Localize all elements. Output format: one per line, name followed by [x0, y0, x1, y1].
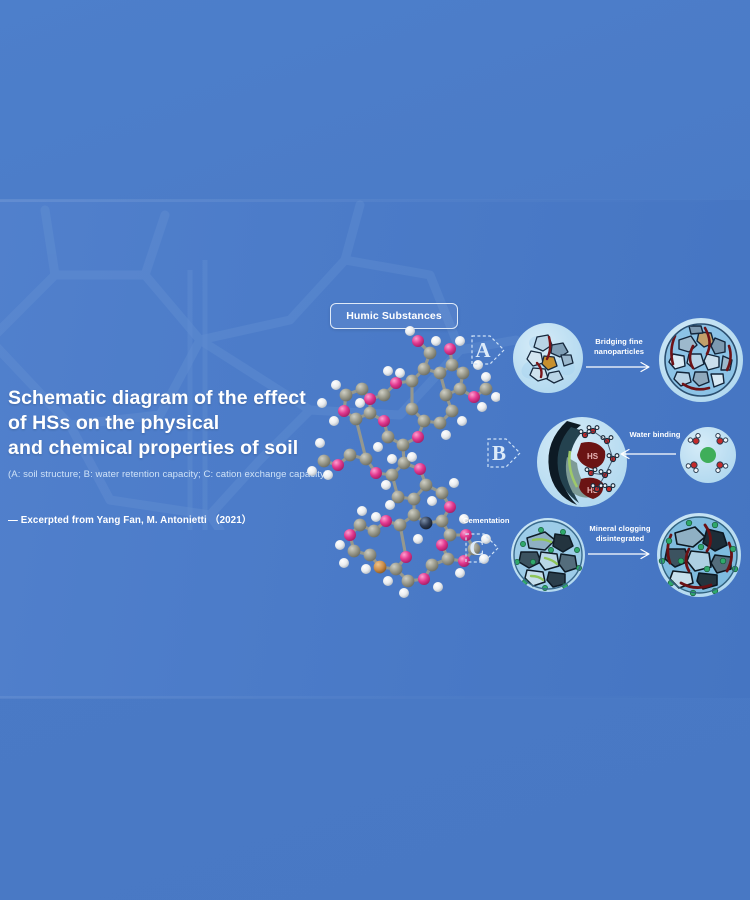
- panel-a-process-line-1: Bridging fine: [595, 337, 642, 346]
- panel-a-letter: A: [470, 330, 496, 370]
- panel-c-process-line-1: Mineral clogging: [589, 524, 650, 533]
- panel-c-process-label: Mineral clogging disintegrated: [572, 524, 668, 543]
- infographic-canvas: Schematic diagram of the effect of HSs o…: [0, 0, 750, 900]
- panel-b-arrow: [620, 447, 676, 459]
- panel-a-process-label: Bridging fine nanoparticles: [576, 337, 662, 356]
- panel-c-marker: C: [464, 528, 500, 568]
- panel-a-right-circle: [659, 318, 743, 402]
- panel-a-left-circle: [513, 323, 583, 393]
- title-line-3: and chemical properties of soil: [8, 437, 298, 459]
- panel-c-process-line-2: disintegrated: [596, 534, 644, 543]
- title-line-1: Schematic diagram of the effect: [8, 387, 306, 409]
- title-line-2: of HSs on the physical: [8, 412, 219, 434]
- page-title: Schematic diagram of the effect of HSs o…: [8, 386, 338, 461]
- panel-c-cementation-text: Cementation: [463, 516, 510, 525]
- panel-b-process-label: Water binding: [620, 430, 690, 440]
- panel-c-arrow: [588, 547, 656, 559]
- panel-b-letter: B: [486, 433, 512, 473]
- panel-key-subtitle: (A: soil structure; B: water retention c…: [8, 468, 338, 482]
- panel-a-process-line-2: nanoparticles: [594, 347, 644, 356]
- band-bottom-edge: [0, 696, 750, 699]
- panel-c-letter: C: [464, 528, 490, 568]
- panel-a-arrow: [586, 360, 656, 372]
- band-top-edge: [0, 199, 750, 202]
- source-attribution: — Excerpted from Yang Fan, M. Antonietti…: [8, 512, 338, 526]
- svg-text:HS: HS: [587, 452, 599, 461]
- humic-substances-text: Humic Substances: [346, 310, 442, 322]
- panel-a-marker: A: [470, 330, 506, 370]
- panel-c-pre-label: Cementation: [463, 516, 529, 526]
- headline-block: Schematic diagram of the effect of HSs o…: [8, 386, 338, 526]
- panel-b-right-circle: [680, 427, 736, 483]
- panel-b-marker: B: [486, 433, 522, 473]
- panel-b-left-circle: HS HS: [537, 417, 627, 507]
- panel-b-process-line-1: Water binding: [630, 430, 681, 439]
- panel-c-right-circle: [657, 513, 741, 597]
